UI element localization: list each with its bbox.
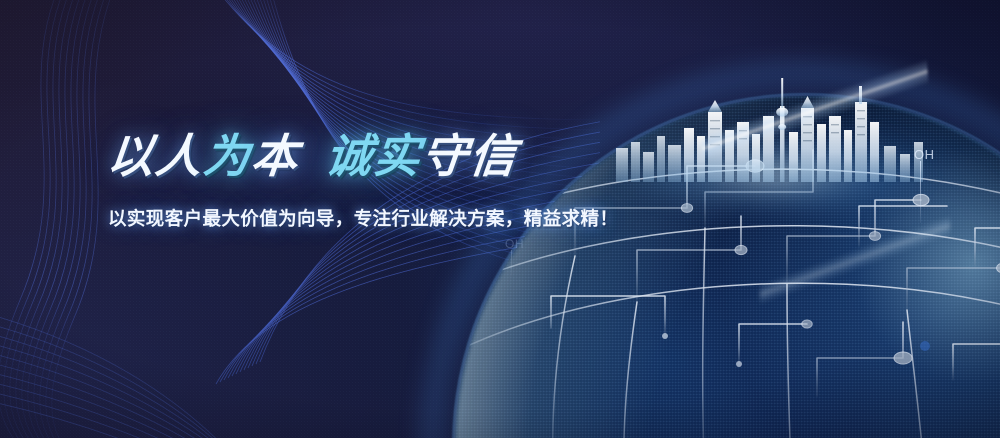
city-skyline: [612, 72, 932, 184]
banner-subtitle: 以实现客户最大价值为向导，专注行业解决方案，精益求精！: [108, 205, 648, 231]
headline-segment-4: 诚实: [323, 120, 426, 186]
banner-headline: 以人 为 本 诚实 守信: [108, 126, 648, 186]
hero-banner: OH OH 以人 为 本 诚实 守信 以实现客户最大价值为向导，专注行业解决方案…: [0, 0, 1000, 438]
banner-text-block: 以人 为 本 诚实 守信 以实现客户最大价值为向导，专注行业解决方案，精益求精！: [108, 126, 648, 231]
headline-segment-5: 守信: [419, 120, 522, 186]
headline-segment-3: 本: [249, 120, 304, 186]
headline-segment-2: 为: [201, 120, 256, 186]
headline-segment-1: 以人: [105, 120, 208, 186]
